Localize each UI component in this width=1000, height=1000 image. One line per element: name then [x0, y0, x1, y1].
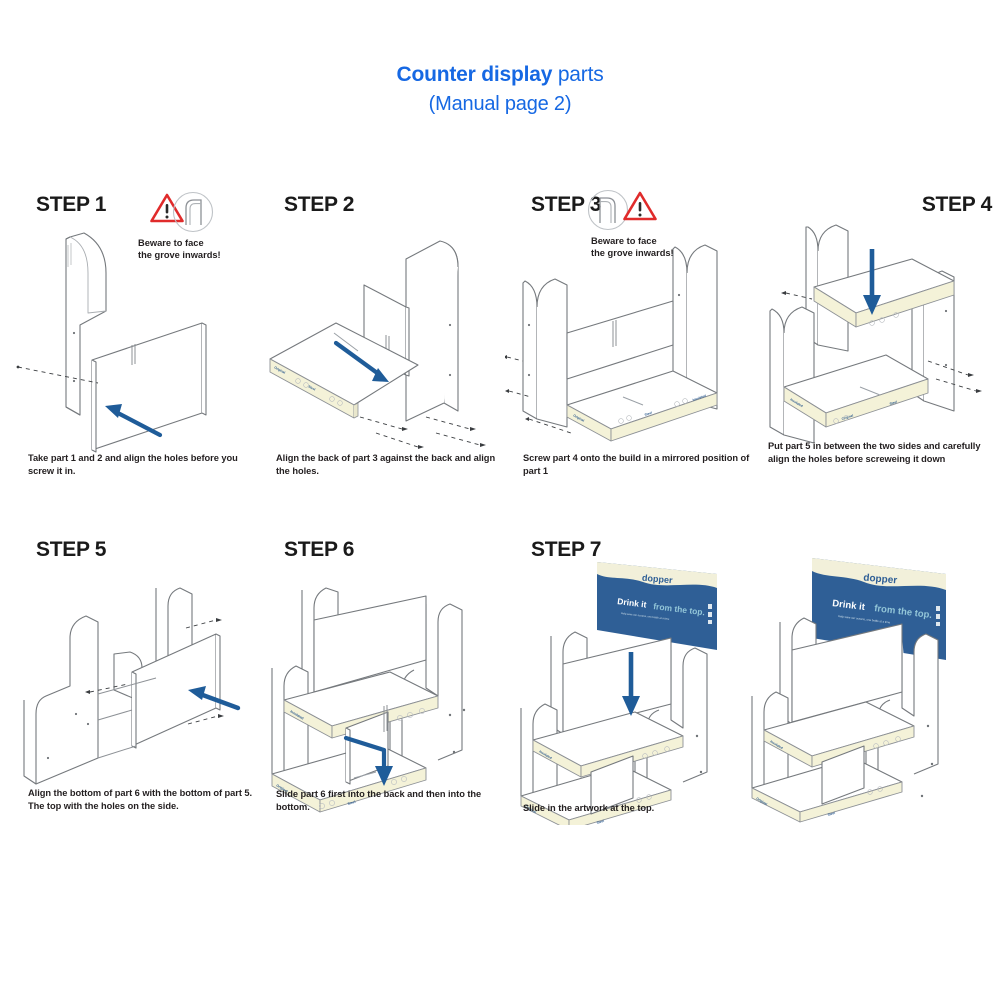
step-7-illustration: dopper since 2010 Drink it from the top.…: [505, 560, 755, 825]
step-2-illustration: Original Steel: [258, 215, 508, 480]
step-7-panel: STEP 7 dopper since 2010 Drink it from t…: [505, 530, 755, 860]
page-title: Counter display parts (Manual page 2): [0, 62, 1000, 117]
artwork-panel: dopper since 2010 Drink it from the top.…: [597, 562, 717, 650]
steps-grid: STEP 1: [0, 185, 1000, 860]
page-title-bold: Counter display: [396, 63, 552, 86]
page-title-rest: parts: [552, 63, 603, 86]
step-7-caption: Slide in the artwork at the top.: [523, 802, 751, 815]
step-2-title: STEP 2: [284, 193, 354, 217]
assembly-manual-page: Counter display parts (Manual page 2) ST…: [0, 0, 1000, 1000]
step-1-caption: Take part 1 and 2 and align the holes be…: [28, 452, 256, 477]
step-5-panel: STEP 5: [10, 530, 260, 860]
step-5-title: STEP 5: [36, 538, 106, 562]
step-6-title: STEP 6: [284, 538, 354, 562]
step-4-caption: Put part 5 in between the two sides and …: [768, 440, 996, 465]
svg-text:Steel: Steel: [596, 819, 605, 825]
step-6-caption: Slide part 6 first into the back and the…: [276, 788, 504, 813]
step-6-illustration: Insulated Original Steel: [258, 560, 508, 825]
step-1-panel: STEP 1: [10, 185, 260, 515]
page-title-line1: Counter display parts: [0, 62, 1000, 88]
steps-row-bottom: STEP 5: [0, 530, 1000, 860]
step-1-title: STEP 1: [36, 193, 106, 217]
step-5-caption: Align the bottom of part 6 with the bott…: [28, 787, 256, 812]
step-2-panel: STEP 2: [258, 185, 508, 515]
step-3-panel: STEP 3: [505, 185, 755, 515]
step-7-title: STEP 7: [531, 538, 601, 562]
step-4-panel: STEP 4: [750, 185, 1000, 515]
step-3-illustration: Original Steel Insulated: [505, 215, 755, 480]
step-1-illustration: [10, 215, 260, 480]
step-4-title: STEP 4: [922, 193, 992, 217]
page-subtitle: (Manual page 2): [0, 91, 1000, 117]
final-assembly-panel: dopper since 2010 Drink it from the top.…: [750, 530, 1000, 860]
steps-row-top: STEP 1: [0, 185, 1000, 515]
step-3-caption: Screw part 4 onto the build in a mirrore…: [523, 452, 751, 477]
final-assembly-illustration: dopper since 2010 Drink it from the top.…: [750, 544, 1000, 809]
step-6-panel: STEP 6: [258, 530, 508, 860]
svg-text:Steel: Steel: [827, 811, 836, 817]
step-2-caption: Align the back of part 3 against the bac…: [276, 452, 504, 477]
step-5-illustration: [10, 560, 260, 825]
